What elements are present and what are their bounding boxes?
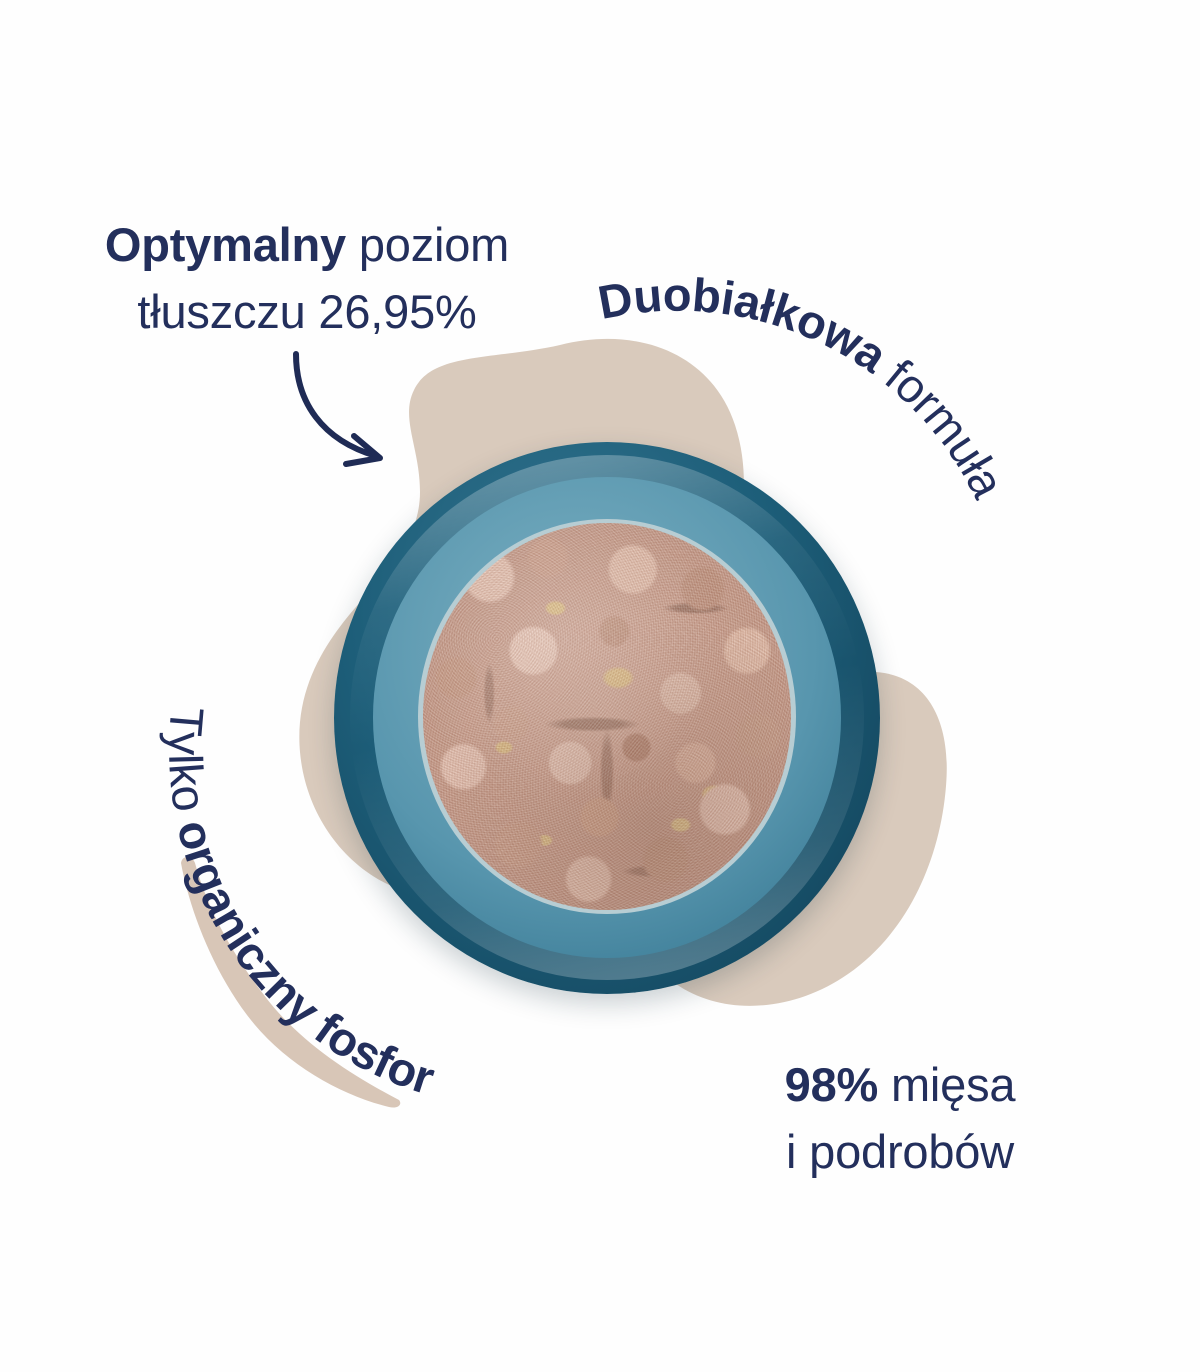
phosphorus-regular: Tylko [159, 705, 219, 827]
fat-callout-line-1: Optymalny poziom [52, 212, 562, 279]
formula-regular: formuła [866, 340, 1015, 507]
formula-bold: Duobiałkowa [594, 268, 898, 383]
phosphorus-curved-text: Tylko organiczny fosfor [159, 705, 441, 1104]
infographic-canvas: Optymalny poziom tłuszczu 26,95% Duobiał… [0, 0, 1200, 1372]
formula-curved-text: Duobiałkowa formuła [594, 268, 1016, 507]
fat-callout-regular-1: poziom [346, 218, 509, 271]
meat-callout-line-2: i podrobów [735, 1119, 1065, 1186]
meat-content-callout: 98% mięsa i podrobów [735, 1052, 1065, 1185]
meat-callout-regular-1: mięsa [878, 1058, 1015, 1111]
optimal-fat-level-callout: Optymalny poziom tłuszczu 26,95% [52, 212, 562, 345]
phosphorus-bold: organiczny fosfor [167, 814, 440, 1104]
meat-callout-bold: 98% [785, 1058, 878, 1111]
curved-arrow-icon [270, 340, 420, 480]
meat-callout-line-1: 98% mięsa [735, 1052, 1065, 1119]
fat-callout-bold: Optymalny [105, 218, 346, 271]
organic-phosphorus-callout: Tylko organiczny fosfor [120, 680, 680, 1150]
fat-callout-line-2: tłuszczu 26,95% [52, 279, 562, 346]
